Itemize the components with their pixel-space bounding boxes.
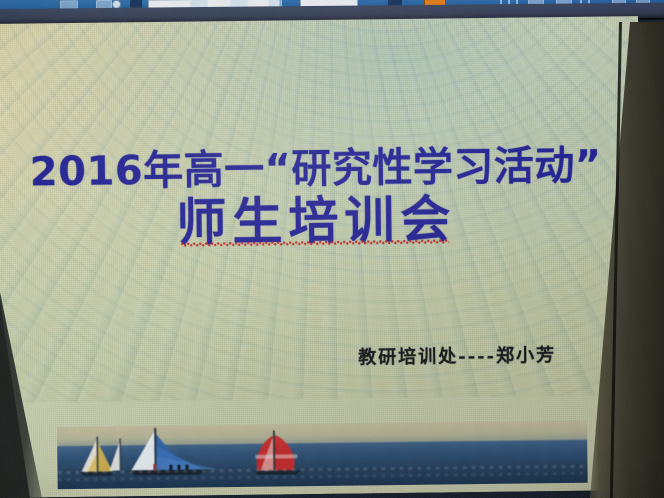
monitor-photograph: 2016年高一“研究性学习活动” 师生培训会 教研培训处----郑小芳	[0, 0, 664, 498]
slide-title-block[interactable]: 2016年高一“研究性学习活动” 师生培训会	[0, 144, 641, 252]
presentation-slide[interactable]: 2016年高一“研究性学习活动” 师生培训会 教研培训处----郑小芳	[0, 16, 644, 498]
slide-title-line-1: 2016年高一“研究性学习活动”	[0, 144, 640, 194]
slide-title-line-2-wrapper: 师生培训会	[172, 193, 461, 251]
sailboat-regatta-photo	[57, 421, 588, 489]
photo-blur	[57, 421, 588, 489]
slide-subtitle-text: 教研培训处----郑小芳	[358, 341, 556, 369]
